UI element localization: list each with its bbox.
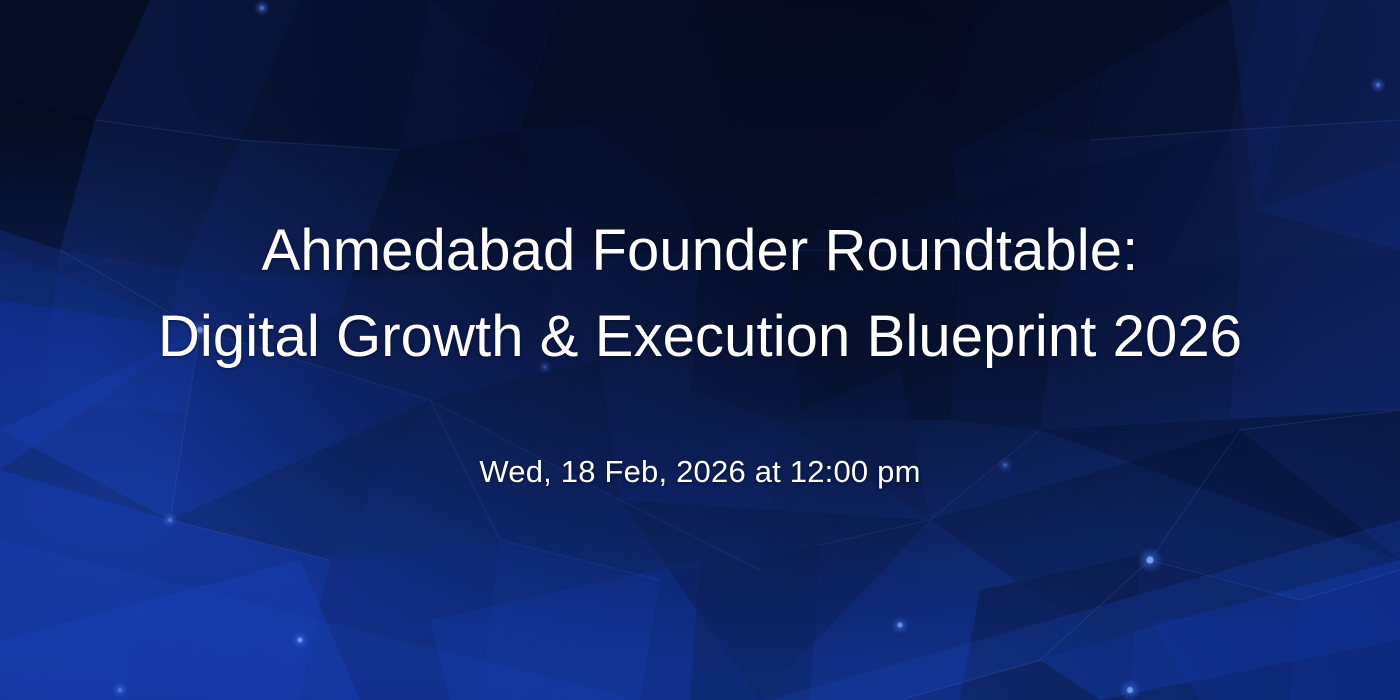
event-banner: Ahmedabad Founder Roundtable: Digital Gr…	[0, 0, 1400, 700]
title-line-2: Digital Growth & Execution Blueprint 202…	[158, 294, 1242, 380]
event-date-time: Wed, 18 Feb, 2026 at 12:00 pm	[479, 452, 920, 492]
title-line-1: Ahmedabad Founder Roundtable:	[158, 208, 1242, 294]
banner-content: Ahmedabad Founder Roundtable: Digital Gr…	[0, 0, 1400, 700]
page-title: Ahmedabad Founder Roundtable: Digital Gr…	[158, 208, 1242, 380]
